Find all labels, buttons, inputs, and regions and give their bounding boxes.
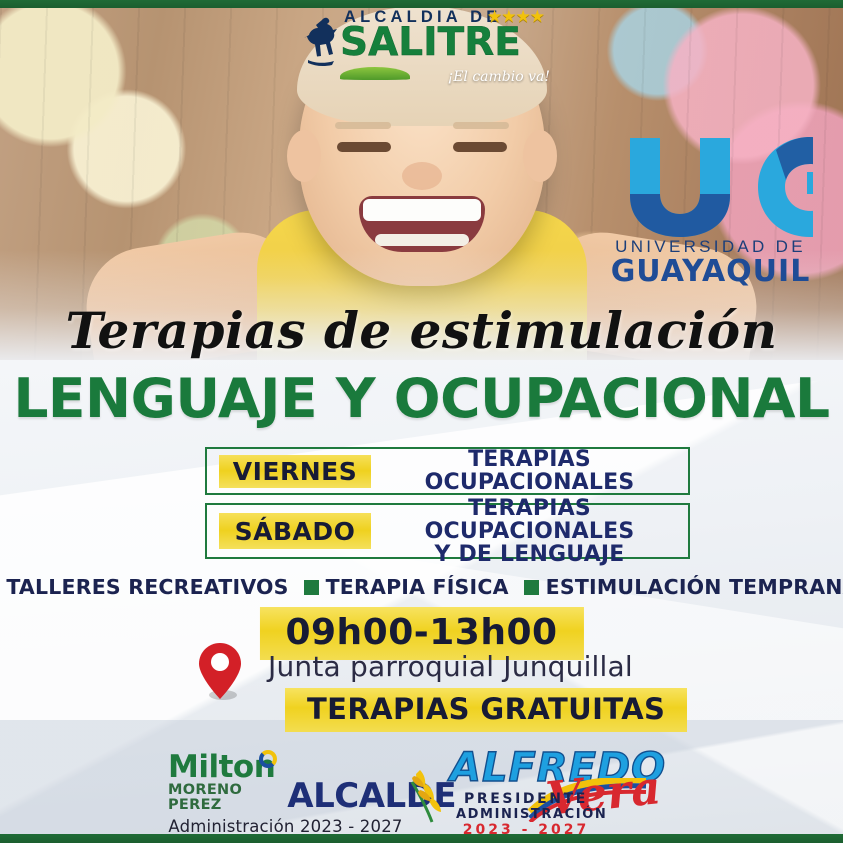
footer-mayor-top: Milton MORENO PEREZ ALCALDE — [168, 752, 403, 813]
title-script: Terapias de estimulación — [0, 303, 843, 359]
schedule-text-saturday-line1: TERAPIAS OCUPACIONALES — [377, 497, 682, 543]
child-teeth-lower — [375, 234, 469, 246]
salitre-logo: ALCALDIA DE ★★★★ SALITRE ¡El cambio va! — [300, 8, 550, 78]
bullet-square-icon — [304, 580, 319, 595]
child-eye-right — [453, 142, 507, 152]
footer-president-role-block: PRESIDENTE ADMINISTRACIÓN 2023 - 2027 — [456, 792, 596, 838]
child-brow-right — [453, 122, 509, 129]
salitre-stars: ★★★★ — [487, 7, 544, 27]
child-teeth-upper — [363, 199, 481, 221]
bullet-square-icon — [524, 580, 539, 595]
schedule-row-saturday: SÁBADO TERAPIAS OCUPACIONALES Y DE LENGU… — [205, 503, 690, 559]
service-label-0: TALLERES RECREATIVOS — [6, 575, 288, 599]
footer-mayor-firstname: Milton — [168, 752, 275, 783]
schedule-text-friday: TERAPIAS OCUPACIONALES — [371, 448, 688, 494]
service-item-2: ESTIMULACIÓN TEMPRANA — [524, 575, 843, 599]
top-green-strip — [0, 0, 843, 8]
child-ear-left — [287, 130, 321, 182]
horse-rider-icon — [302, 16, 348, 68]
footer-president-role: PRESIDENTE — [456, 792, 596, 807]
child-brow-left — [335, 122, 391, 129]
poster-root: ALCALDIA DE ★★★★ SALITRE ¡El cambio va! … — [0, 0, 843, 843]
services-list: TALLERES RECREATIVOS TERAPIA FÍSICA ESTI… — [0, 575, 843, 599]
schedule-text-saturday: TERAPIAS OCUPACIONALES Y DE LENGUAJE — [371, 497, 688, 566]
child-eye-left — [337, 142, 391, 152]
schedule-row-friday: VIERNES TERAPIAS OCUPACIONALES — [205, 447, 690, 495]
footer-mayor-logo: Milton MORENO PEREZ ALCALDE Administraci… — [168, 752, 403, 824]
footer-president-admin-label: ADMINISTRACIÓN — [456, 807, 596, 822]
service-label-1: TERAPIA FÍSICA — [326, 575, 509, 599]
ug-logo: UNIVERSIDAD DE GUAYAQUIL — [608, 132, 813, 282]
service-label-2: ESTIMULACIÓN TEMPRANA — [546, 575, 843, 599]
ug-monogram-icon — [608, 132, 813, 237]
service-item-1: TERAPIA FÍSICA — [304, 575, 509, 599]
schedule-text-saturday-line2: Y DE LENGUAJE — [377, 543, 682, 566]
child-mouth — [359, 196, 485, 252]
map-pin-icon — [193, 641, 249, 703]
free-therapies-badge: TERAPIAS GRATUITAS — [285, 688, 687, 732]
ug-line2: GUAYAQUIL — [608, 256, 813, 287]
schedule-day-chip-friday: VIERNES — [219, 455, 371, 488]
location-text: Junta parroquial Junquillal — [268, 650, 633, 683]
salitre-hill-shape — [340, 67, 410, 80]
ug-monogram — [608, 132, 813, 237]
service-item-0: TALLERES RECREATIVOS — [0, 575, 289, 599]
footer-mayor-names: Milton MORENO PEREZ — [168, 752, 275, 813]
footer-mayor-lastname: MORENO PEREZ — [168, 783, 275, 813]
title-main: LENGUAJE Y OCUPACIONAL — [0, 370, 843, 428]
bottom-green-strip — [0, 834, 843, 843]
salitre-tagline: ¡El cambio va! — [448, 69, 550, 85]
footer-president-logo: ALFREDO Vera PRESIDENTE ADMINISTRACIÓN 2… — [410, 748, 665, 828]
child-ear-right — [523, 130, 557, 182]
schedule-day-chip-saturday: SÁBADO — [219, 513, 371, 549]
child-nose — [402, 162, 442, 190]
